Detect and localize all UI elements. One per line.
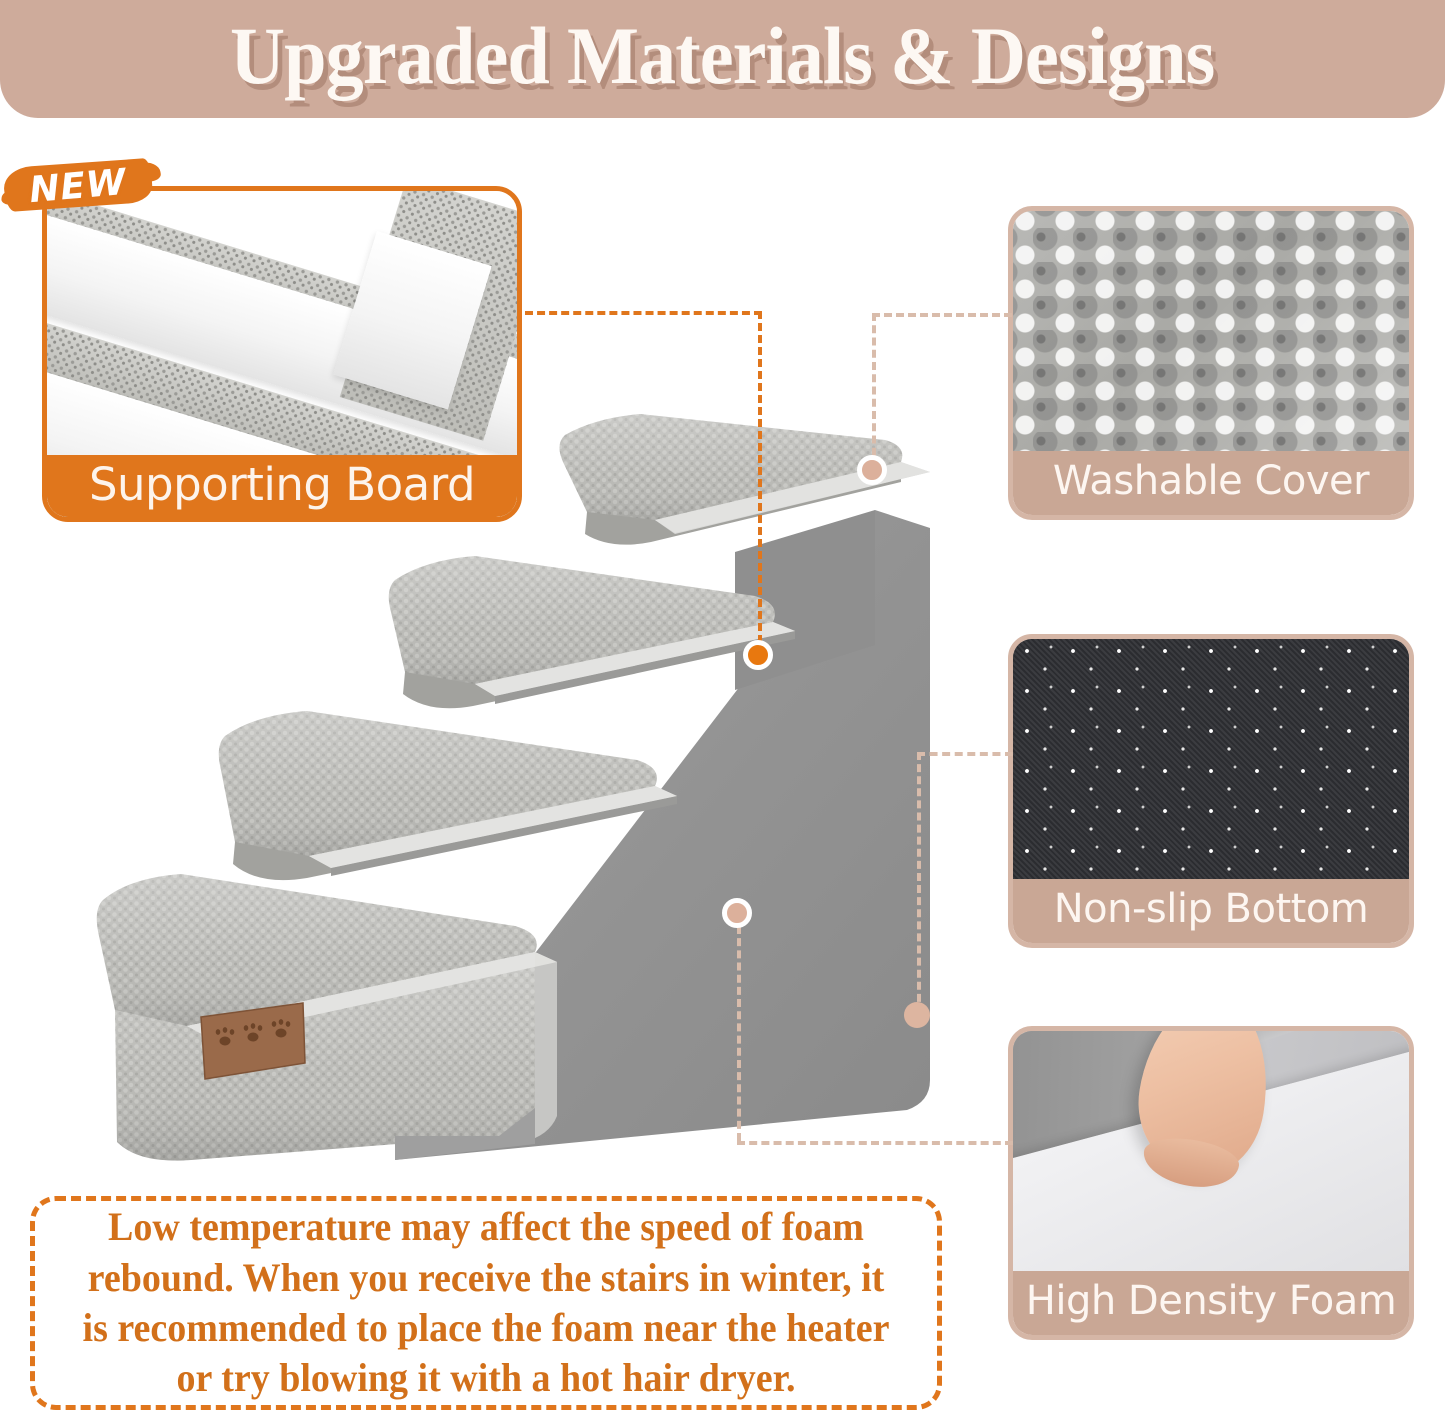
non-slip-bottom-label: Non-slip Bottom [1013,879,1409,943]
page-title: Upgraded Materials & Designs [230,15,1214,103]
stair-step-1 [97,874,557,1161]
connector-supporting-board-horizontal [525,311,762,315]
hotspot-high-density-foam[interactable] [722,898,752,928]
connector-nonslip-horizontal [917,752,1013,756]
non-slip-bottom-photo [1013,639,1409,879]
connector-foam-horizontal [737,1141,1013,1145]
warning-note-box: Low temperature may affect the speed of … [30,1196,942,1410]
washable-cover-photo [1013,211,1409,451]
washable-cover-label: Washable Cover [1013,451,1409,515]
feature-card-non-slip-bottom: Non-slip Bottom [1008,634,1414,948]
hotspot-non-slip-bottom[interactable] [904,1002,930,1028]
warning-note-text: Low temperature may affect the speed of … [58,1202,915,1404]
feature-card-washable-cover: Washable Cover [1008,206,1414,520]
non-slip-bottom-label-text: Non-slip Bottom [1054,889,1369,933]
connector-nonslip-vertical [917,752,921,1014]
feature-card-high-density-foam: High Density Foam [1008,1026,1414,1340]
hotspot-washable-cover[interactable] [857,455,887,485]
high-density-foam-label: High Density Foam [1013,1271,1409,1335]
high-density-foam-photo [1013,1031,1409,1271]
connector-foam-vertical [737,926,741,1141]
new-badge: NEW [4,155,156,217]
hotspot-supporting-board[interactable] [743,640,773,670]
high-density-foam-label-text: High Density Foam [1026,1281,1396,1325]
washable-cover-label-text: Washable Cover [1053,461,1369,505]
pet-stairs-illustration [95,400,1020,1190]
connector-supporting-board-vertical [758,311,762,655]
connector-washable-vertical [872,313,876,468]
new-badge-text: NEW [2,149,155,224]
page-header-banner: Upgraded Materials & Designs [0,0,1445,118]
connector-washable-horizontal [872,313,1012,317]
